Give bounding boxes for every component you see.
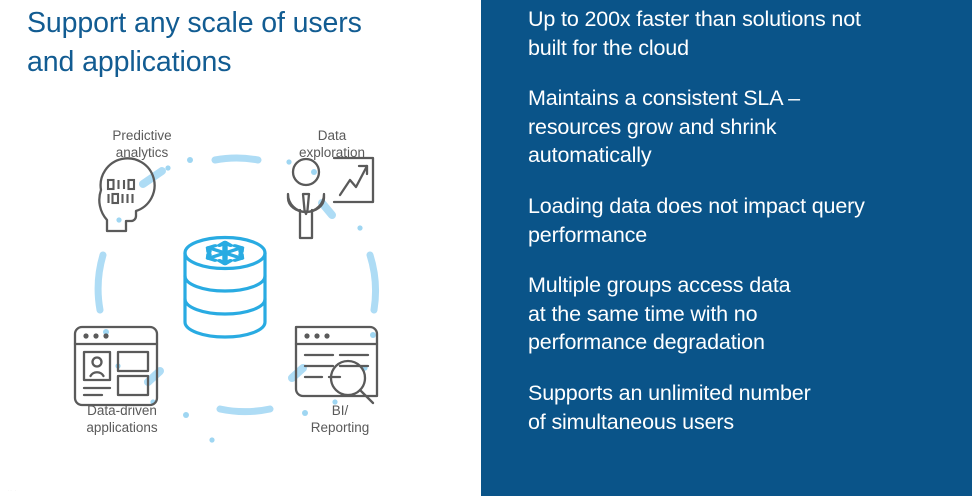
slide-canvas: Support any scale of users and applicati…: [0, 0, 972, 496]
brain-head-binary-icon: [99, 158, 162, 231]
window-dots: [304, 333, 329, 338]
benefits-panel: Up to 200x faster than solutions not bui…: [481, 0, 972, 496]
benefit-item-2: Maintains a consistent SLA – resources g…: [528, 84, 946, 170]
left-panel: Support any scale of users and applicati…: [0, 0, 481, 496]
accent-stroke: [148, 371, 160, 382]
report-search-icon: [292, 327, 377, 403]
ring-dots: [103, 157, 376, 443]
page-title: Support any scale of users and applicati…: [27, 4, 447, 83]
node-label-predictive-analytics: Predictive analytics: [82, 127, 202, 161]
benefit-item-3: Loading data does not impact query perfo…: [528, 192, 946, 249]
node-label-data-driven-applications: Data-driven applications: [52, 402, 192, 436]
benefit-item-4: Multiple groups access data at the same …: [528, 271, 946, 357]
snowflake-database-icon: [185, 238, 265, 338]
benefit-item-1: Up to 200x faster than solutions not bui…: [528, 5, 946, 62]
app-window-icon: [75, 327, 160, 405]
scale-diagram: Predictive analytics Data exploration Da…: [40, 110, 440, 460]
benefit-item-5: Supports an unlimited number of simultan…: [528, 379, 946, 436]
window-dots: [83, 333, 108, 338]
accent-stroke: [292, 368, 303, 378]
ring-arcs: [98, 158, 375, 412]
node-label-bi-reporting: BI/ Reporting: [280, 402, 400, 436]
corner-artifact: ·· ·: [8, 488, 17, 493]
node-label-data-exploration: Data exploration: [272, 127, 392, 161]
accent-stroke: [322, 203, 332, 215]
